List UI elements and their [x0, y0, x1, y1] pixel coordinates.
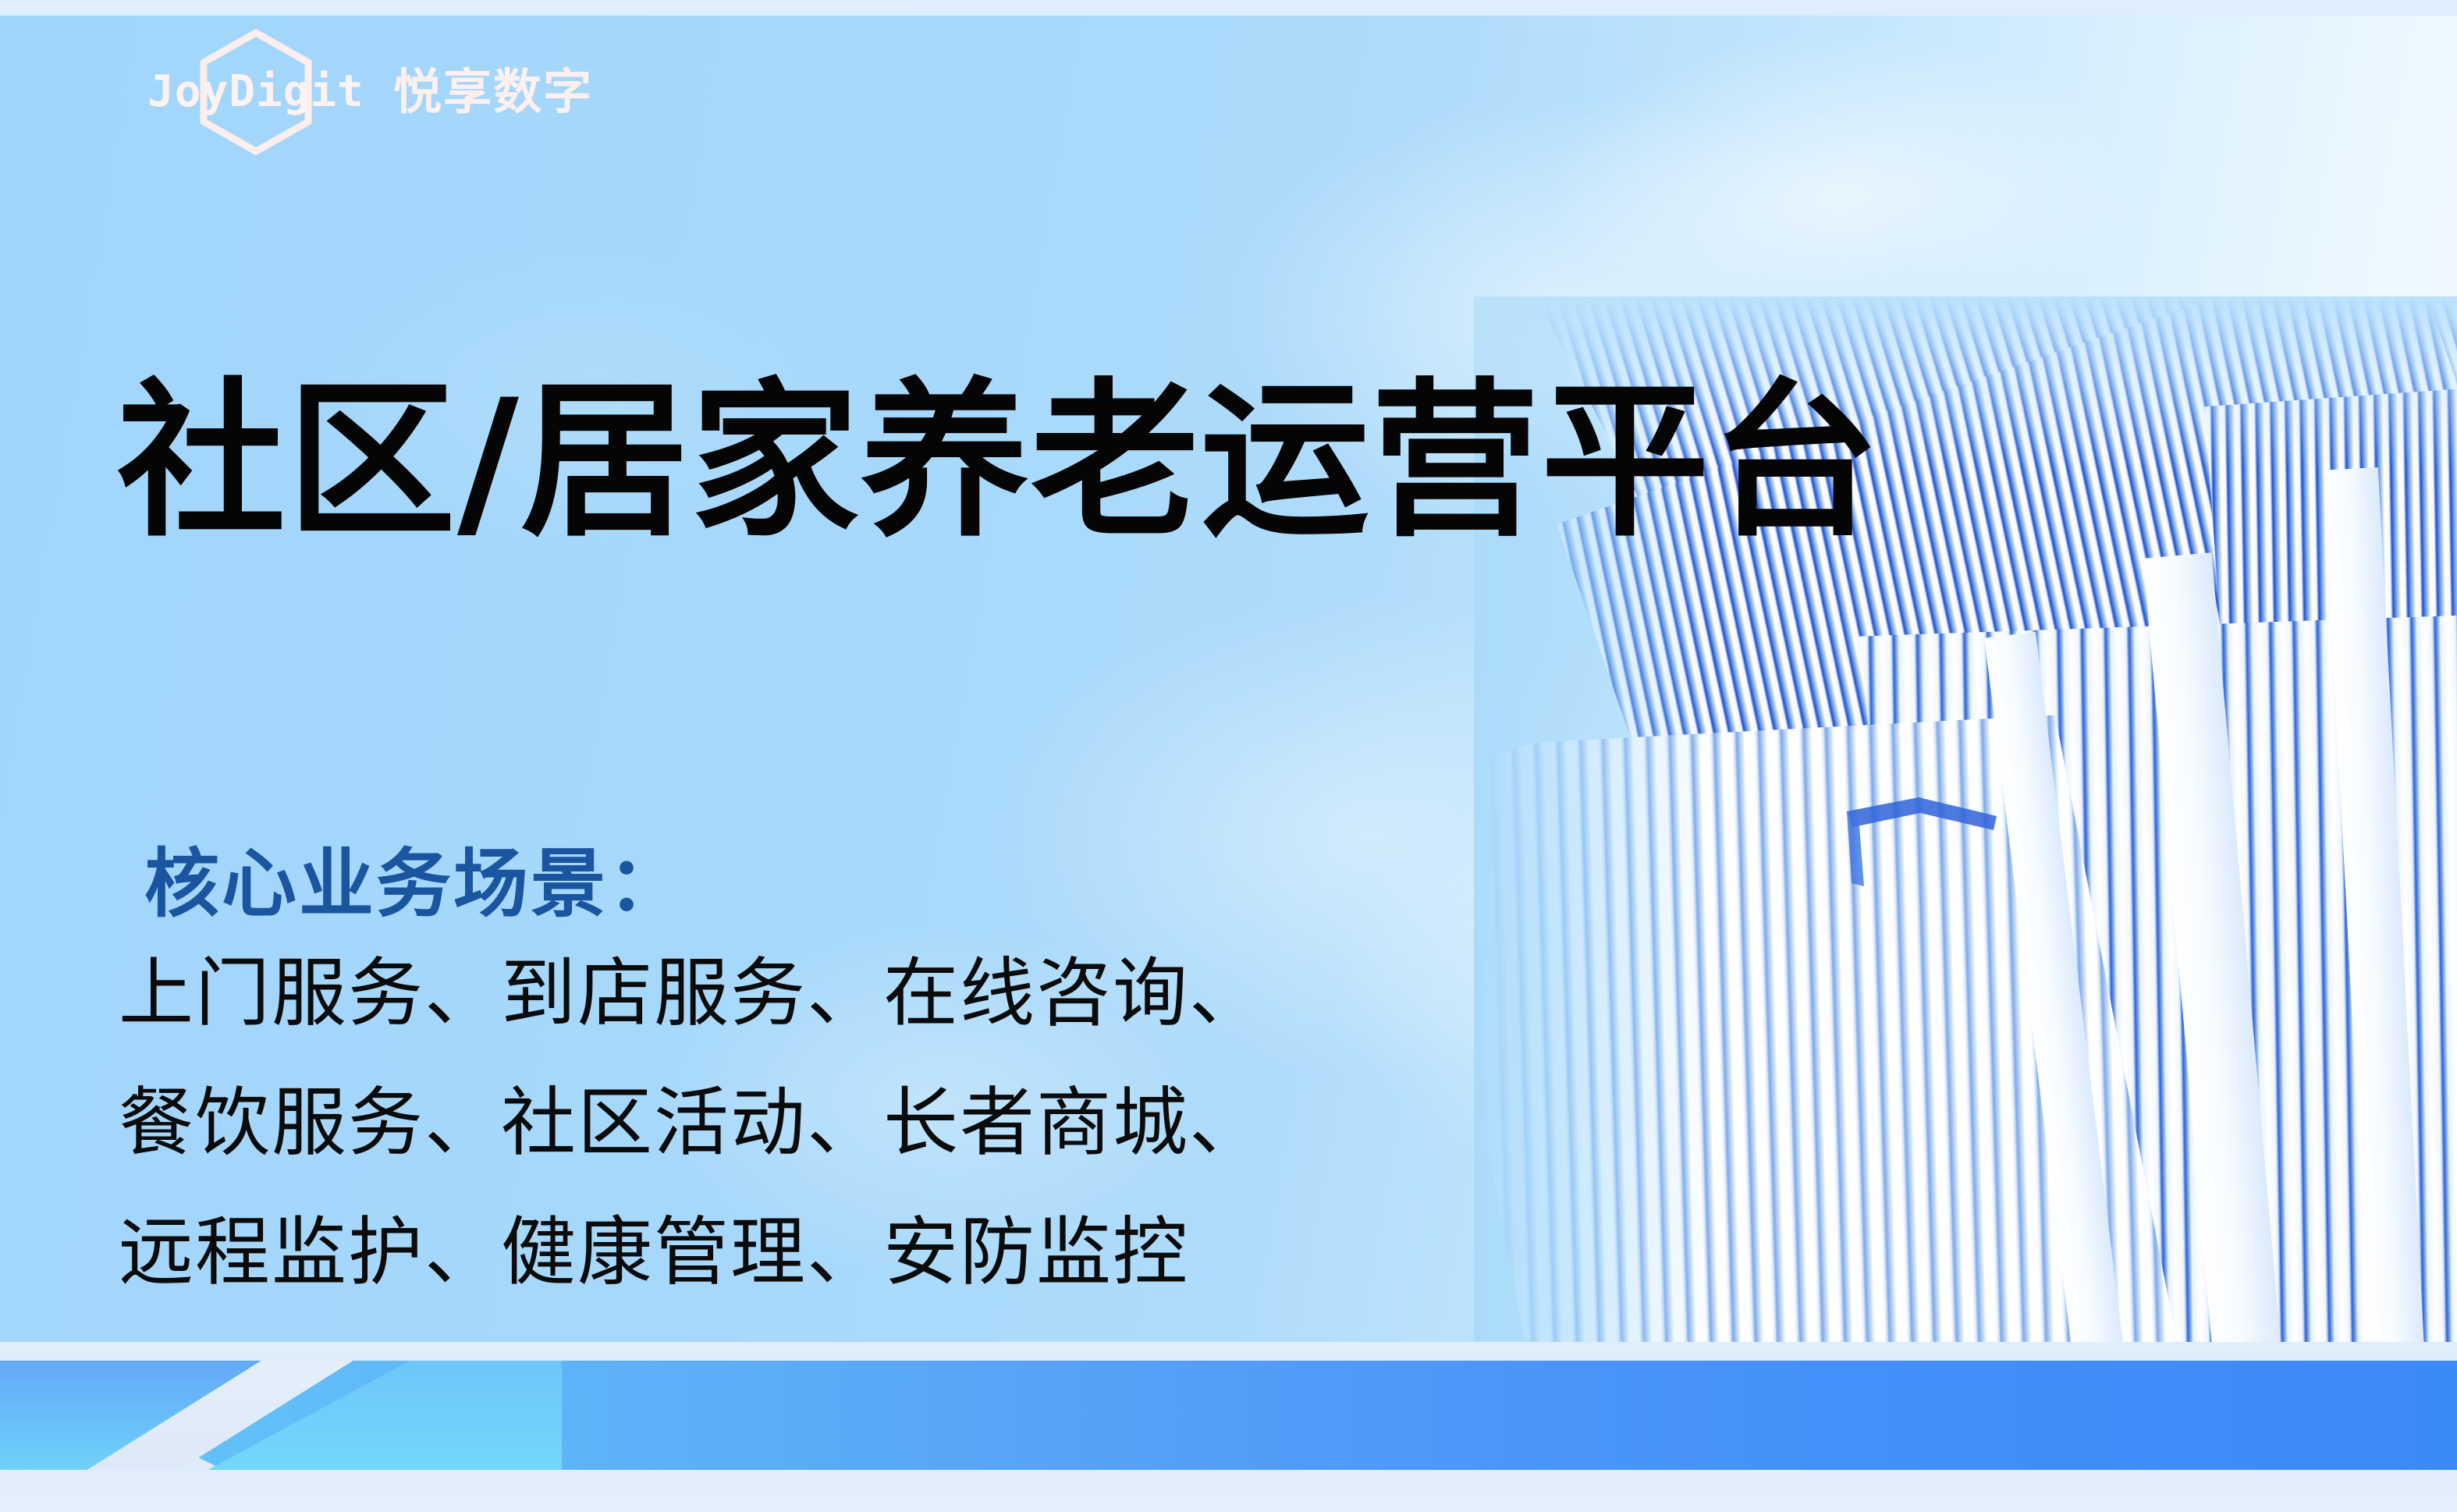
scenario-line: 上门服务、到店服务、在线咨询、 [119, 928, 1266, 1058]
top-hairline [0, 0, 2457, 16]
logo-mark: JoyDigit [139, 48, 373, 136]
page-title: 社区/居家养老运营平台 [117, 371, 1881, 552]
brand-logo[interactable]: JoyDigit 悦享数字 [139, 48, 593, 136]
section-heading-core-scenarios: 核心业务场景： [144, 843, 685, 927]
scenario-line: 远程监护、健康管理、安防监控 [119, 1187, 1266, 1317]
slide-canvas: JoyDigit 悦享数字 社区/居家养老运营平台 核心业务场景： 上门服务、到… [0, 0, 2457, 1512]
logo-wordmark: JoyDigit [147, 70, 364, 114]
scenario-list: 上门服务、到店服务、在线咨询、 餐饮服务、社区活动、长者商城、 远程监护、健康管… [119, 928, 1266, 1317]
bottom-decoration-bar [0, 1342, 2457, 1512]
logo-wordmark-cn: 悦享数字 [393, 68, 593, 116]
scenario-line: 餐饮服务、社区活动、长者商城、 [119, 1058, 1266, 1187]
